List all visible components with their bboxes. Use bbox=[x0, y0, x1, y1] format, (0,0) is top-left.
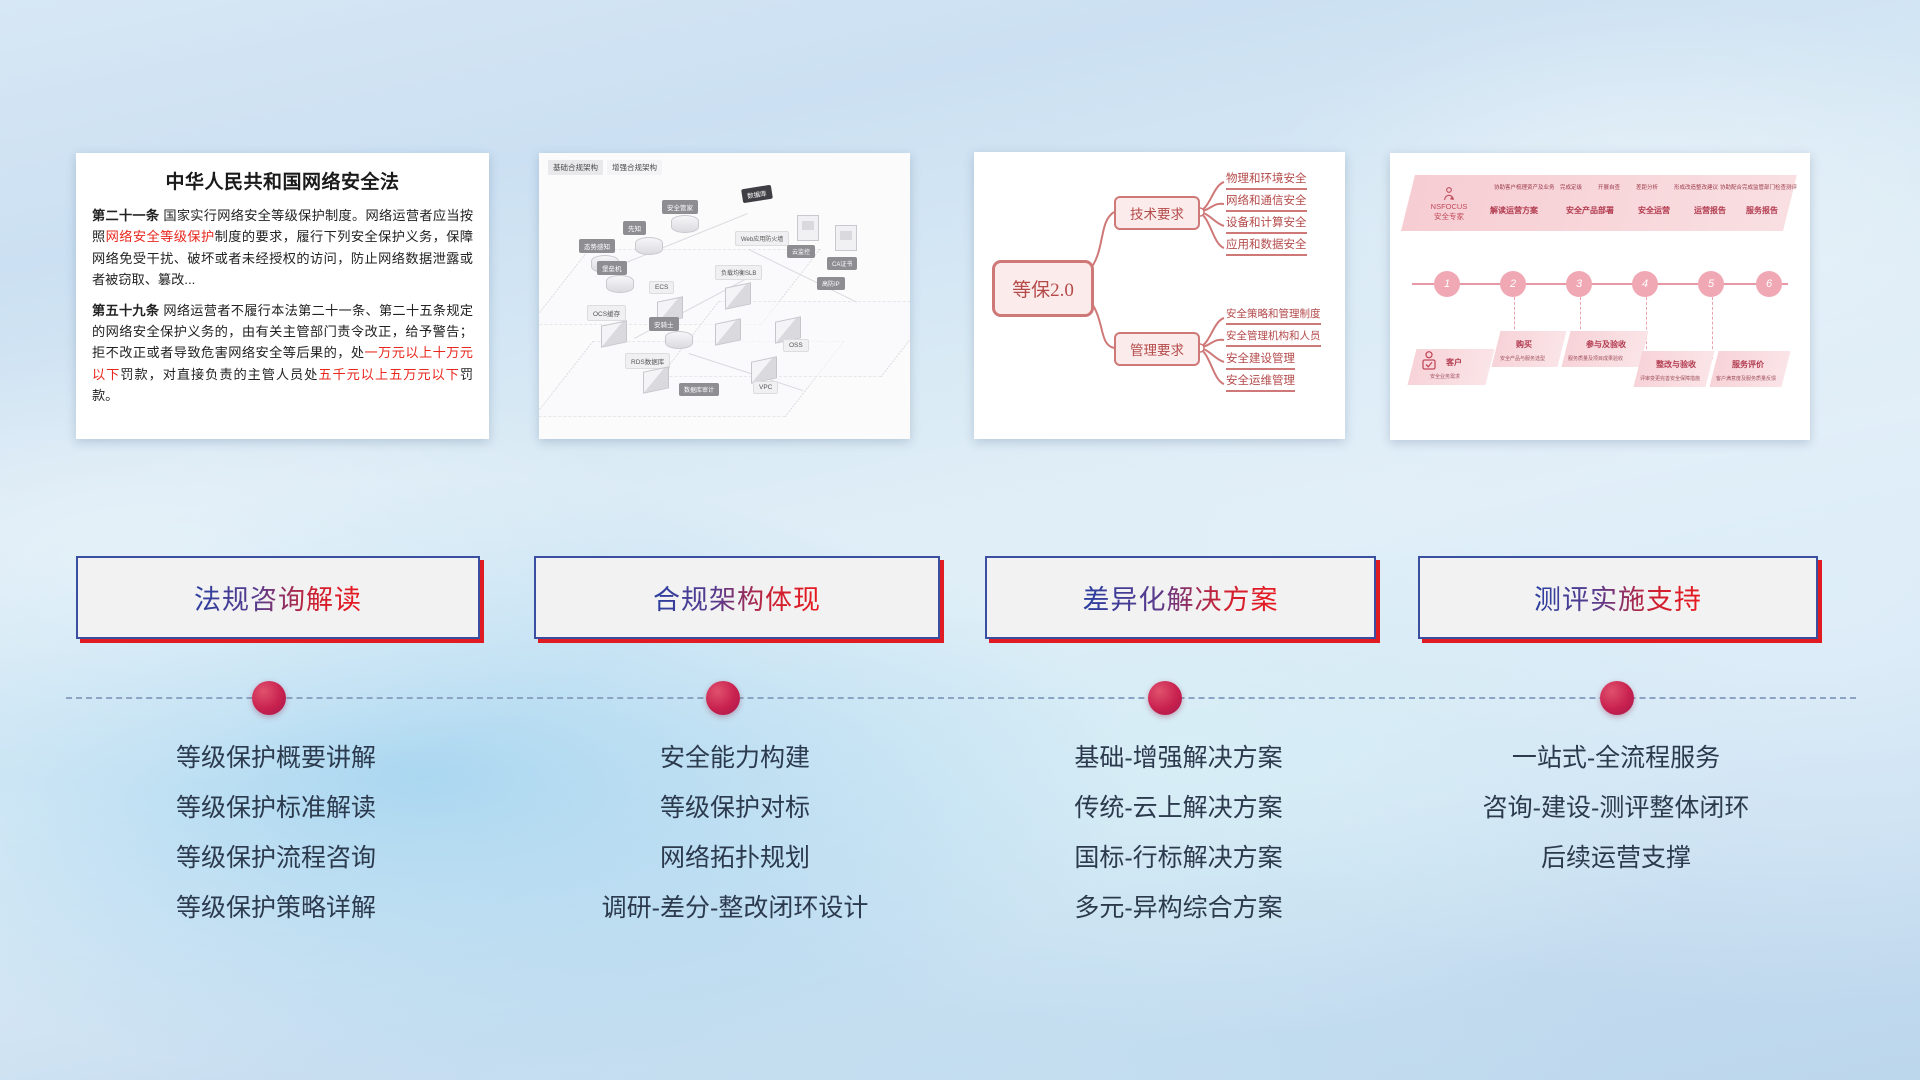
node-cloud-monitor: 云监控 bbox=[787, 245, 815, 258]
feature-item: 安全能力构建 bbox=[534, 746, 936, 771]
law-title: 中华人民共和国网络安全法 bbox=[92, 167, 473, 194]
law-article-59: 第五十九条 网络运营者不履行本法第二十一条、第二十五条规定的网络安全保护义务的，… bbox=[92, 300, 473, 407]
nsfocus-step-2: 2 bbox=[1500, 271, 1526, 297]
card-nsfocus-service-flow[interactable]: NSFOCUS 安全专家 协助客户梳理资产及业务 完成定级 开展自查 差距分析 … bbox=[1390, 153, 1810, 440]
nsfocus-step-3: 3 bbox=[1566, 271, 1592, 297]
timeline-dot-4 bbox=[1600, 681, 1634, 715]
feature-item: 网络拓扑规划 bbox=[534, 846, 936, 871]
timeline-dashed-line bbox=[66, 697, 1856, 699]
nsfocus-step-4: 4 bbox=[1632, 271, 1658, 297]
nsfocus-step-1: 1 bbox=[1434, 271, 1460, 297]
node-ca-certificate: CA证书 bbox=[827, 257, 857, 270]
node-anti-ddos-ip: 高防IP bbox=[817, 277, 845, 290]
node-safe-steward: 安全管家 bbox=[662, 200, 698, 214]
article-21-label: 第二十一条 bbox=[92, 208, 159, 223]
nsfocus-top-item-2: 完成定级 bbox=[1560, 183, 1582, 191]
architecture-tabs: 基础合规架构 增强合规架构 bbox=[548, 160, 662, 175]
icon-disk-bastion bbox=[606, 275, 634, 293]
nsfocus-client-label: 客户 bbox=[1446, 357, 1462, 368]
button-differentiated-solution[interactable]: 差异化解决方案 bbox=[985, 556, 1376, 639]
feature-column-2: 安全能力构建 等级保护对标 网络拓扑规划 调研-差分-整改闭环设计 bbox=[534, 746, 936, 946]
nsfocus-box-4-label: 服务评价 bbox=[1732, 359, 1764, 370]
nsfocus-top-item-1: 协助客户梳理资产及业务 bbox=[1494, 183, 1555, 191]
mindmap-leaf-app-data: 应用和数据安全 bbox=[1226, 236, 1307, 256]
node-slb: 负载均衡SLB bbox=[715, 265, 762, 280]
feature-item: 传统-云上解决方案 bbox=[985, 796, 1372, 821]
nsfocus-dash-4 bbox=[1712, 297, 1714, 359]
icon-disk-xianzhi bbox=[635, 237, 663, 255]
node-oss: OSS bbox=[783, 339, 809, 352]
mindmap-leaf-construction-mgmt: 安全建设管理 bbox=[1226, 350, 1295, 370]
nsfocus-phase-3: 安全运营 bbox=[1638, 205, 1670, 216]
nsfocus-brand: NSFOCUS 安全专家 bbox=[1416, 177, 1482, 231]
nsfocus-top-item-4: 差距分析 bbox=[1636, 183, 1658, 191]
timeline-dot-3 bbox=[1148, 681, 1182, 715]
nsfocus-top-item-6: 协助配合完成监管部门检查测评 bbox=[1720, 183, 1797, 191]
mindmap-root: 等保2.0 bbox=[992, 260, 1094, 317]
icon-disk-anqishi bbox=[665, 331, 693, 349]
nsfocus-box-3-sub: 评审变更完善安全保障措施 bbox=[1640, 375, 1700, 382]
nsfocus-box-4-sub: 客户满意度及服务质量反馈 bbox=[1716, 375, 1776, 382]
button-regulation-consulting-label: 法规咨询解读 bbox=[194, 578, 362, 617]
client-person-icon bbox=[1420, 349, 1438, 371]
icon-server-ca bbox=[835, 225, 857, 251]
feature-column-3: 基础-增强解决方案 传统-云上解决方案 国标-行标解决方案 多元-异构综合方案 bbox=[985, 746, 1372, 946]
feature-item: 等级保护策略详解 bbox=[76, 896, 476, 921]
card-compliance-architecture[interactable]: 基础合规架构 增强合规架构 数据库 安全管家 先知 态势感知 堡垒机 ECS bbox=[539, 153, 910, 439]
nsfocus-client-sub: 安全业务需求 bbox=[1430, 373, 1460, 380]
feature-item: 一站式-全流程服务 bbox=[1418, 746, 1814, 771]
nsfocus-phase-4: 运营报告 bbox=[1694, 205, 1726, 216]
node-ecs: ECS bbox=[649, 281, 674, 294]
button-regulation-consulting[interactable]: 法规咨询解读 bbox=[76, 556, 480, 639]
mindmap-leaf-network-comm: 网络和通信安全 bbox=[1226, 192, 1307, 212]
nsfocus-brand-name: NSFOCUS bbox=[1431, 202, 1468, 212]
tab-enhanced-architecture[interactable]: 增强合规架构 bbox=[607, 160, 662, 175]
feature-item: 后续运营支撑 bbox=[1418, 846, 1814, 871]
feature-item: 等级保护流程咨询 bbox=[76, 846, 476, 871]
nsfocus-box-3-label: 整改与验收 bbox=[1656, 359, 1696, 370]
mindmap-leaf-physical-env: 物理和环境安全 bbox=[1226, 170, 1307, 190]
nsfocus-brand-sub: 安全专家 bbox=[1434, 212, 1464, 222]
node-web-firewall: Web应用防火墙 bbox=[735, 231, 789, 246]
law-document: 中华人民共和国网络安全法 第二十一条 国家实行网络安全等级保护制度。网络运营者应… bbox=[76, 153, 489, 439]
feature-item: 等级保护标准解读 bbox=[76, 796, 476, 821]
expert-person-icon bbox=[1441, 186, 1457, 202]
nsfocus-top-item-3: 开展自查 bbox=[1598, 183, 1620, 191]
button-differentiated-solution-label: 差异化解决方案 bbox=[1083, 578, 1279, 617]
nsfocus-step-6: 6 bbox=[1756, 271, 1782, 297]
nsfocus-phase-5: 服务报告 bbox=[1746, 205, 1778, 216]
button-compliance-architecture-label: 合规架构体现 bbox=[653, 578, 821, 617]
feature-item: 多元-异构综合方案 bbox=[985, 896, 1372, 921]
timeline-dot-2 bbox=[706, 681, 740, 715]
nsfocus-diagram: NSFOCUS 安全专家 协助客户梳理资产及业务 完成定级 开展自查 差距分析 … bbox=[1390, 153, 1810, 440]
mindmap-leaf-policy-system: 安全策略和管理制度 bbox=[1226, 306, 1321, 325]
node-ocs-cache: OCS缓存 bbox=[587, 305, 626, 321]
nsfocus-box-1-label: 购买 bbox=[1516, 339, 1532, 350]
feature-column-4: 一站式-全流程服务 咨询-建设-测评整体闭环 后续运营支撑 bbox=[1418, 746, 1814, 896]
node-vpc: VPC bbox=[753, 381, 778, 394]
mindmap-branch-technical: 技术要求 bbox=[1114, 196, 1200, 230]
nsfocus-phase-2: 安全产品部署 bbox=[1566, 205, 1614, 216]
mindmap-leaf-org-personnel: 安全管理机构和人员 bbox=[1226, 328, 1321, 347]
article-59-label: 第五十九条 bbox=[92, 303, 159, 318]
timeline-dot-1 bbox=[252, 681, 286, 715]
architecture-diagram: 基础合规架构 增强合规架构 数据库 安全管家 先知 态势感知 堡垒机 ECS bbox=[539, 153, 910, 439]
tab-basic-architecture[interactable]: 基础合规架构 bbox=[548, 160, 603, 175]
icon-server-monitor bbox=[797, 215, 819, 241]
card-cybersecurity-law[interactable]: 中华人民共和国网络安全法 第二十一条 国家实行网络安全等级保护制度。网络运营者应… bbox=[76, 153, 489, 439]
node-xianzhi: 先知 bbox=[623, 221, 646, 235]
nsfocus-phase-1: 解读运营方案 bbox=[1490, 205, 1538, 216]
mindmap: 等保2.0 技术要求 物理和环境安全 网络和通信安全 设备和计算安全 应用和数据… bbox=[974, 152, 1345, 439]
feature-item: 等级保护概要讲解 bbox=[76, 746, 476, 771]
feature-item: 咨询-建设-测评整体闭环 bbox=[1418, 796, 1814, 821]
button-evaluation-support-label: 测评实施支持 bbox=[1534, 578, 1702, 617]
nsfocus-box-2-sub: 服务质量及项目成果验收 bbox=[1568, 355, 1623, 362]
nsfocus-box-2-label: 参与及验收 bbox=[1586, 339, 1626, 350]
feature-item: 调研-差分-整改闭环设计 bbox=[534, 896, 936, 921]
node-database-audit: 数据库审计 bbox=[679, 383, 719, 396]
nsfocus-box-1-sub: 安全产品与服务选型 bbox=[1500, 355, 1545, 362]
feature-item: 基础-增强解决方案 bbox=[985, 746, 1372, 771]
mindmap-branch-management: 管理要求 bbox=[1114, 332, 1200, 366]
button-evaluation-support[interactable]: 测评实施支持 bbox=[1418, 556, 1818, 639]
feature-item: 国标-行标解决方案 bbox=[985, 846, 1372, 871]
feature-item: 等级保护对标 bbox=[534, 796, 936, 821]
icon-disk-safe-steward bbox=[671, 215, 699, 233]
node-situation-awareness: 态势感知 bbox=[579, 239, 615, 253]
nsfocus-step-5: 5 bbox=[1698, 271, 1724, 297]
nsfocus-timeline-axis bbox=[1412, 283, 1788, 285]
article-21-highlight: 网络安全等级保护 bbox=[106, 229, 215, 244]
nsfocus-dash-3 bbox=[1646, 297, 1648, 359]
law-article-21: 第二十一条 国家实行网络安全等级保护制度。网络运营者应当按照网络安全等级保护制度… bbox=[92, 205, 473, 291]
mindmap-leaf-device-compute: 设备和计算安全 bbox=[1226, 214, 1307, 234]
nsfocus-top-item-5: 形成改造整改建议 bbox=[1674, 183, 1718, 191]
feature-column-1: 等级保护概要讲解 等级保护标准解读 等级保护流程咨询 等级保护策略详解 bbox=[76, 746, 476, 946]
card-mindmap-dengbao[interactable]: 等保2.0 技术要求 物理和环境安全 网络和通信安全 设备和计算安全 应用和数据… bbox=[974, 152, 1345, 439]
button-compliance-architecture[interactable]: 合规架构体现 bbox=[534, 556, 940, 639]
node-database: 数据库 bbox=[741, 185, 772, 203]
node-bastion-host: 堡垒机 bbox=[597, 261, 627, 275]
article-59-highlight-2: 五千元以上五万元以下 bbox=[318, 367, 459, 382]
article-59-part2: 罚款，对直接负责的主管人员处 bbox=[120, 367, 318, 382]
mindmap-leaf-ops-mgmt: 安全运维管理 bbox=[1226, 372, 1295, 392]
node-anqishi: 安骑士 bbox=[649, 317, 679, 331]
